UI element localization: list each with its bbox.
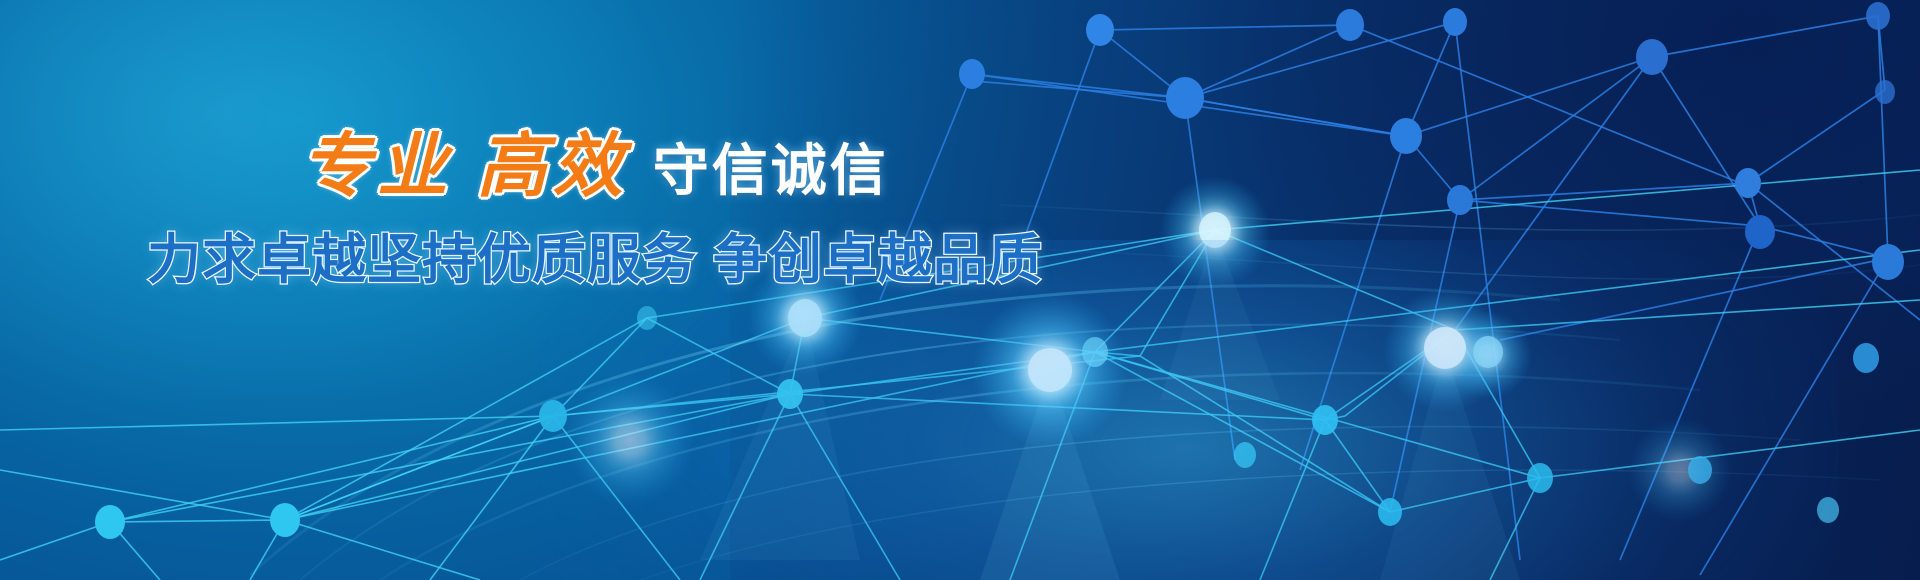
background-bottom-glow: [538, 240, 1838, 580]
hero-banner: 专业 高效守信诚信 力求卓越坚持优质服务 争创卓越品质: [0, 0, 1920, 580]
